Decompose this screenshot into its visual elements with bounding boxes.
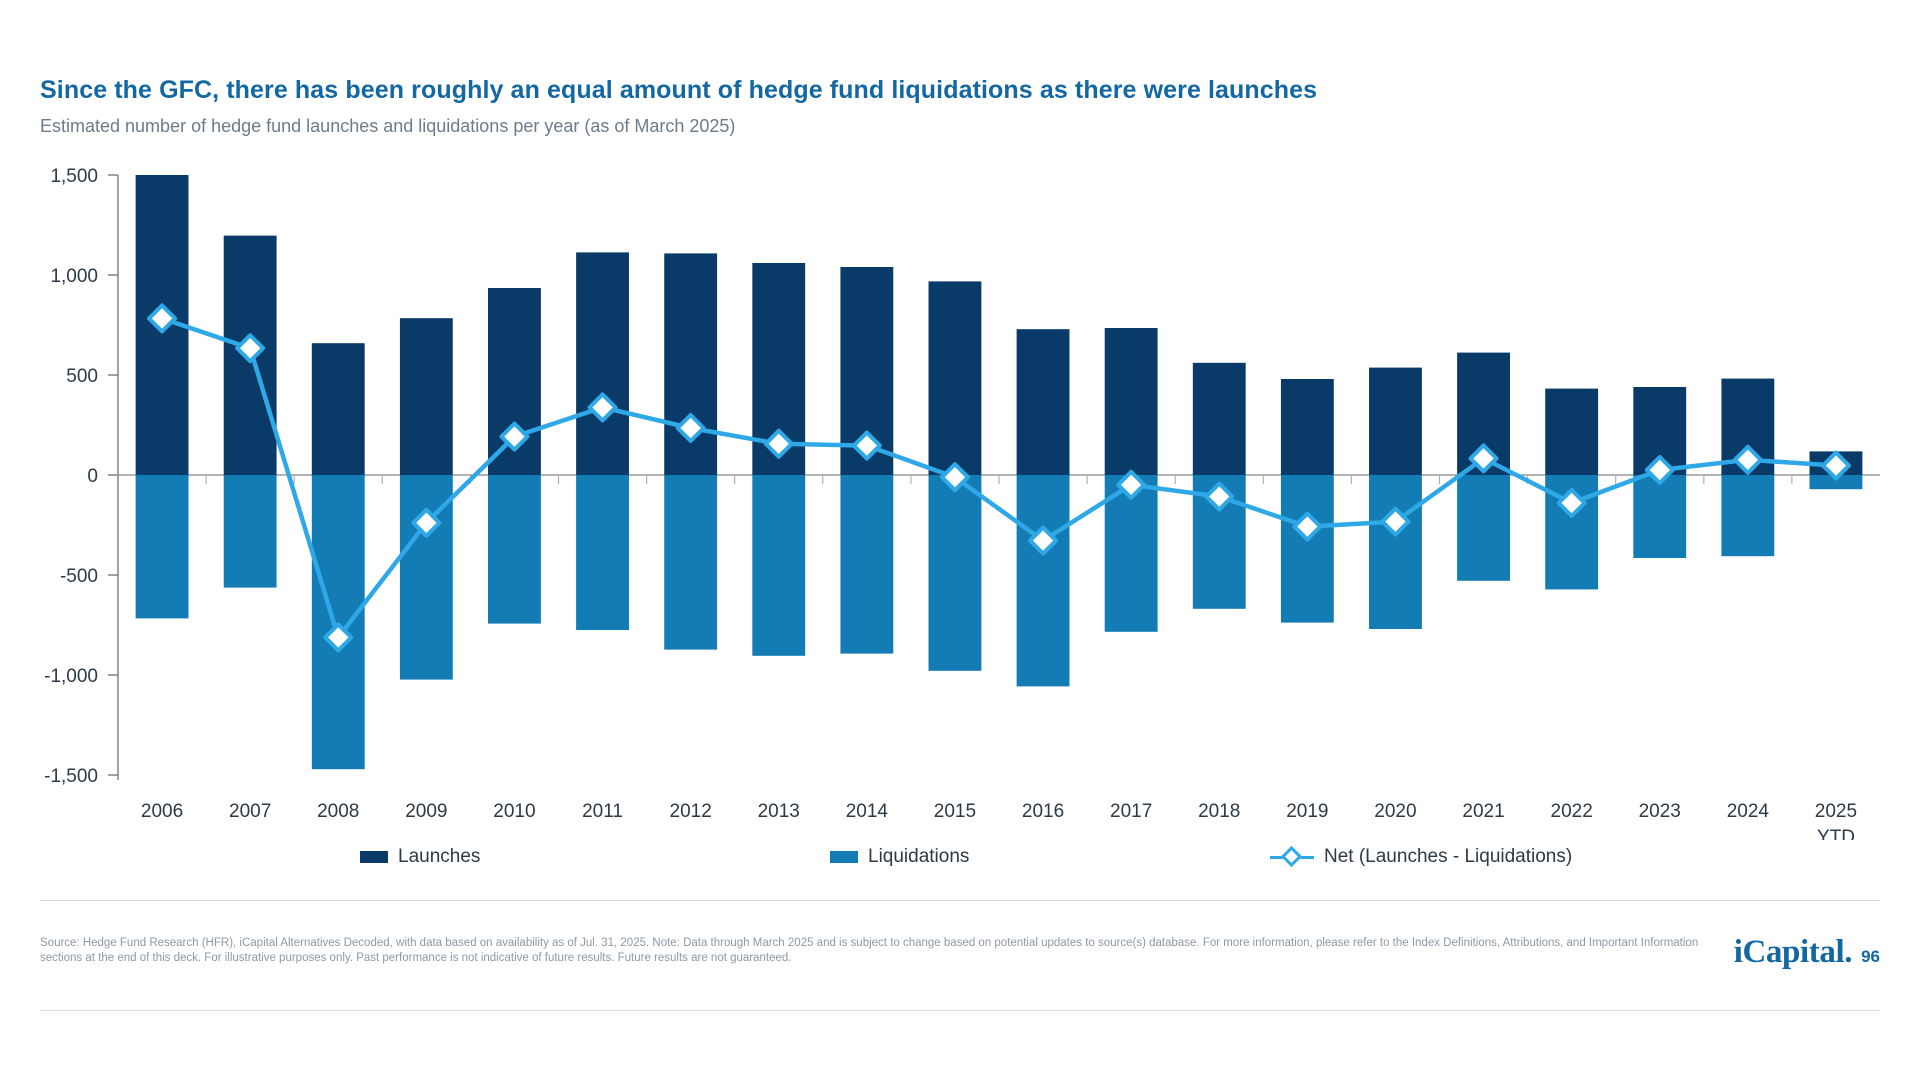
legend-item-net[interactable]: Net (Launches - Liquidations) <box>1270 846 1572 868</box>
bar-liquidations <box>1457 475 1510 581</box>
bar-liquidations <box>840 475 893 654</box>
chart-svg: 1,5001,0005000-500-1,000-1,500 200620072… <box>0 0 1920 840</box>
x-axis-tick: 2025 <box>1815 801 1857 822</box>
bar-launches <box>1545 389 1598 475</box>
x-axis-tick: 2014 <box>846 801 889 822</box>
bar-liquidations <box>752 475 805 656</box>
bar-launches <box>1281 379 1334 475</box>
legend-label-liquidations: Liquidations <box>868 846 969 868</box>
x-axis-tick: 2016 <box>1022 801 1064 822</box>
x-axis-tick: 2019 <box>1286 801 1328 822</box>
bar-launches <box>1017 329 1070 475</box>
y-axis-labels: 1,5001,0005000-500-1,000-1,500 <box>44 166 98 787</box>
y-axis-tick: 500 <box>66 366 98 387</box>
bar-liquidations <box>664 475 717 650</box>
y-axis-tick: 1,500 <box>50 166 98 187</box>
x-axis-labels: 2006200720082009201020112012201320142015… <box>141 801 1857 840</box>
x-axis-tick: 2020 <box>1374 801 1416 822</box>
legend-label-launches: Launches <box>398 846 480 868</box>
bar-liquidations <box>312 475 365 769</box>
bar-liquidations <box>136 475 189 618</box>
x-axis-tick-sub: YTD <box>1817 827 1855 840</box>
x-axis-tick: 2009 <box>405 801 447 822</box>
x-axis-tick: 2018 <box>1198 801 1240 822</box>
x-axis-tick: 2012 <box>670 801 712 822</box>
bar-liquidations <box>929 475 982 671</box>
y-axis-tick: -500 <box>60 566 98 587</box>
bar-launches <box>576 252 629 475</box>
chart-legend: Launches Liquidations Net (Launches - Li… <box>0 846 1920 876</box>
legend-label-net: Net (Launches - Liquidations) <box>1324 846 1572 868</box>
page-number: 96 <box>1861 947 1880 967</box>
x-axis-tick: 2007 <box>229 801 271 822</box>
y-axis-tick: 1,000 <box>50 266 98 287</box>
bars-launches <box>136 175 1863 475</box>
x-axis-tick: 2022 <box>1551 801 1593 822</box>
logo-text: iCapital. <box>1734 934 1852 971</box>
liquidations-swatch-icon <box>830 851 858 863</box>
bar-launches <box>1369 368 1422 475</box>
x-axis-tick: 2015 <box>934 801 976 822</box>
x-axis-tick: 2024 <box>1727 801 1770 822</box>
bars-liquidations <box>136 475 1863 769</box>
legend-item-liquidations[interactable]: Liquidations <box>830 846 969 868</box>
axis-layer <box>108 175 1880 780</box>
bar-liquidations <box>1721 475 1774 556</box>
bar-liquidations <box>576 475 629 630</box>
net-line-marker-icon <box>1270 849 1314 865</box>
x-axis-tick: 2006 <box>141 801 183 822</box>
bar-liquidations <box>1633 475 1686 558</box>
bar-launches <box>1105 328 1158 475</box>
bar-liquidations <box>488 475 541 624</box>
divider-bottom <box>40 1010 1880 1011</box>
y-axis-tick: -1,500 <box>44 766 98 787</box>
slide: Since the GFC, there has been roughly an… <box>0 0 1920 1080</box>
x-axis-tick: 2010 <box>493 801 535 822</box>
source-footnote: Source: Hedge Fund Research (HFR), iCapi… <box>40 936 1700 966</box>
legend-item-launches[interactable]: Launches <box>360 846 480 868</box>
x-axis-tick: 2023 <box>1639 801 1681 822</box>
bar-launches <box>400 318 453 475</box>
y-axis-tick: 0 <box>87 466 98 487</box>
bar-liquidations <box>1017 475 1070 686</box>
brand-logo: iCapital. 96 <box>1734 934 1880 971</box>
y-axis-tick: -1,000 <box>44 666 98 687</box>
x-axis-tick: 2017 <box>1110 801 1152 822</box>
x-axis-tick: 2013 <box>758 801 800 822</box>
bar-liquidations <box>1281 475 1334 623</box>
chart-area: 1,5001,0005000-500-1,000-1,500 200620072… <box>0 0 1920 1080</box>
x-axis-tick: 2011 <box>582 801 623 822</box>
bar-launches <box>929 281 982 475</box>
bar-launches <box>312 343 365 475</box>
divider-top <box>40 900 1880 901</box>
x-axis-tick: 2008 <box>317 801 359 822</box>
launches-swatch-icon <box>360 851 388 863</box>
x-axis-tick: 2021 <box>1462 801 1504 822</box>
bar-liquidations <box>1369 475 1422 629</box>
bar-liquidations <box>224 475 277 588</box>
bar-launches <box>1193 363 1246 475</box>
